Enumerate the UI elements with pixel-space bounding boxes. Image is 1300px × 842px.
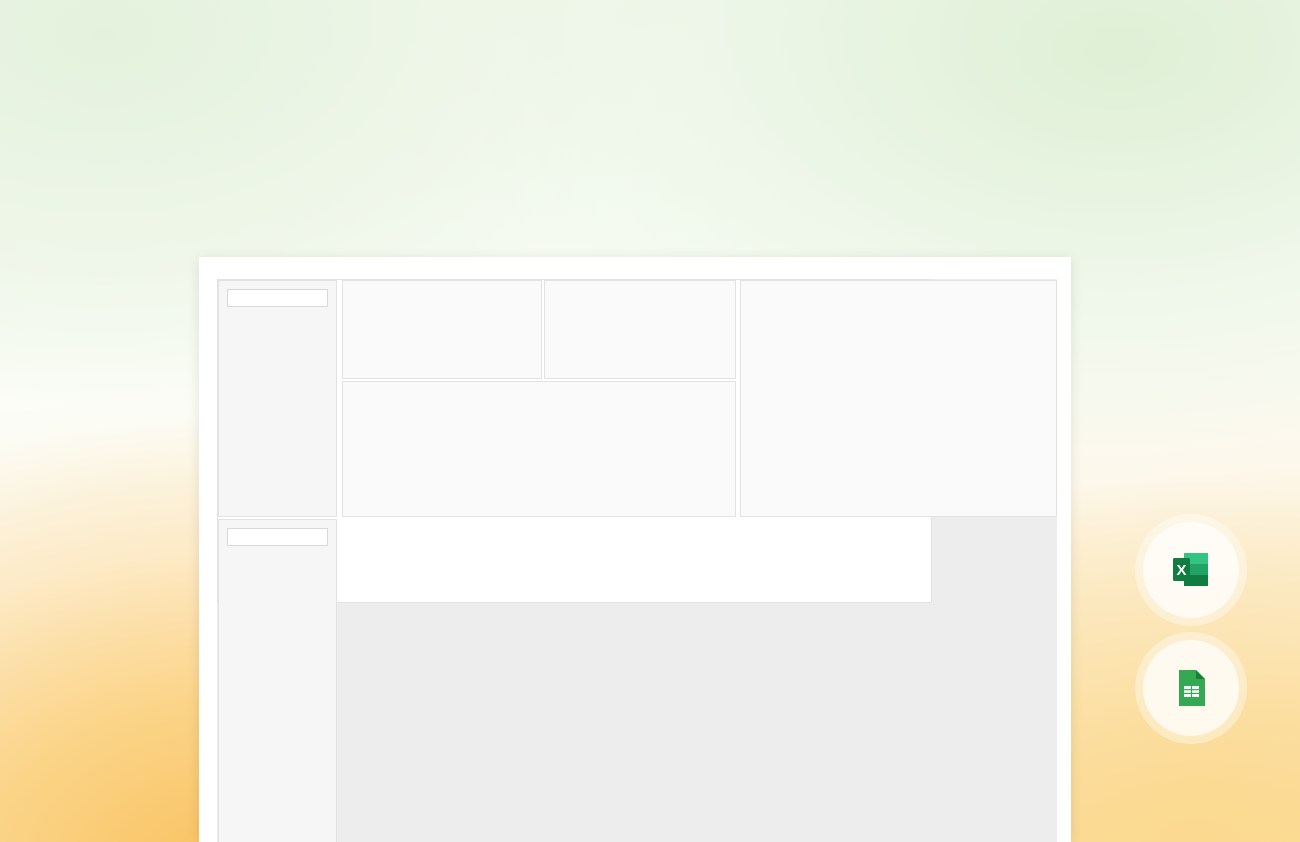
title-line-1: [0, 0, 1300, 32]
google-sheets-icon: [1168, 665, 1214, 711]
dashboard-frame: [199, 257, 1071, 842]
discrepancy-chart-title: [741, 281, 1056, 289]
pass-fail-bar-chart: [545, 281, 735, 377]
pass-fail-bar-panel: [544, 280, 736, 379]
spreadsheet-canvas: [217, 279, 1057, 842]
account-type-donut-panel: [342, 280, 542, 379]
balance-discrepancy-panel: [740, 280, 1057, 517]
opening-balance-trend-chart: [343, 389, 735, 501]
count-summary-panel: [218, 280, 337, 517]
filters-panel: [218, 519, 337, 842]
filters-title: [227, 528, 328, 546]
trend-chart-title: [343, 382, 735, 389]
google-sheets-badge[interactable]: [1143, 640, 1239, 736]
opening-balance-trend-panel: [342, 381, 736, 517]
account-type-donut-chart: [343, 281, 541, 377]
microsoft-excel-badge[interactable]: X: [1143, 522, 1239, 618]
header: [0, 0, 1300, 46]
microsoft-excel-icon: X: [1168, 547, 1214, 593]
count-summary-title: [227, 289, 328, 307]
svg-text:X: X: [1176, 562, 1186, 579]
